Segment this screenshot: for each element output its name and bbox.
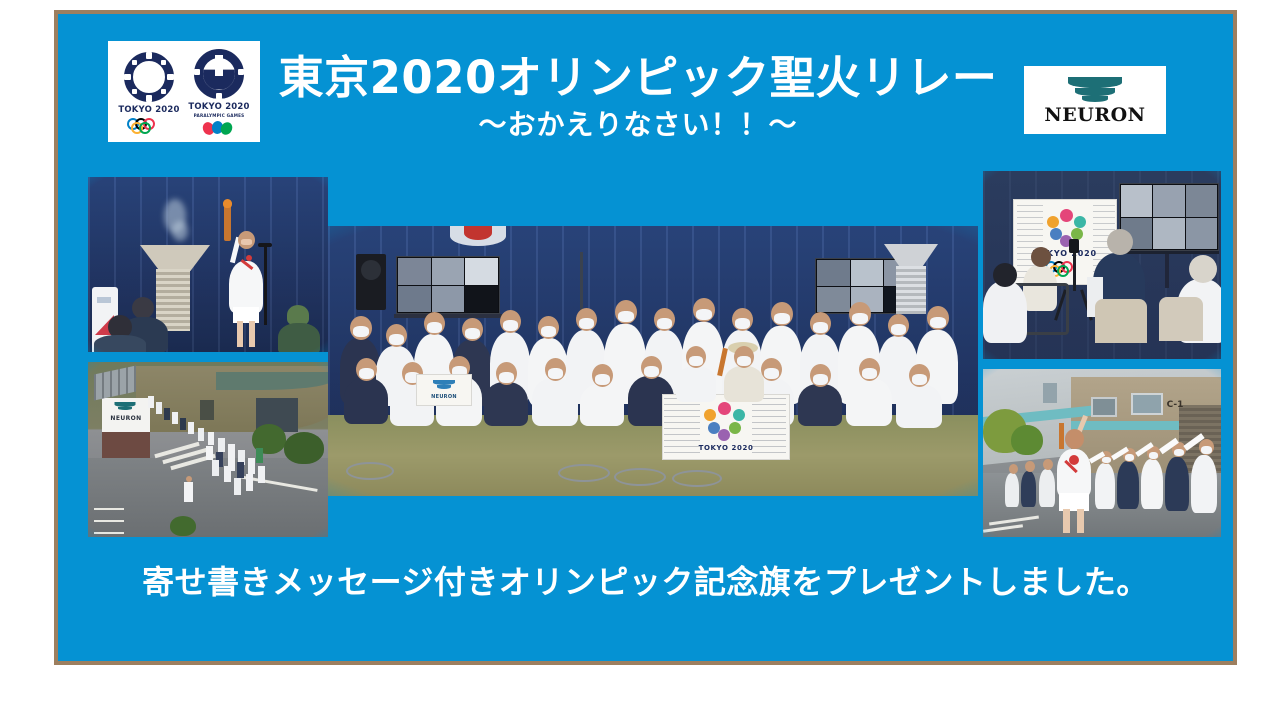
- group-commemorative-photo: NEURON TOKYO 2020: [328, 226, 978, 496]
- neuron-logo-box: NEURON: [1024, 66, 1166, 134]
- neuron-wordmark: NEURON: [1044, 106, 1145, 125]
- checkered-fan-icon: [194, 49, 244, 99]
- torch-lighting-photo: [88, 177, 328, 352]
- page-subtitle: 〜おかえりなさい！！〜: [268, 110, 1008, 141]
- tokyo-2020-olympic-emblem: TOKYO 2020: [117, 52, 181, 132]
- relay-route-aerial-photo: NEURON: [88, 362, 328, 537]
- caption-text: 寄せ書きメッセージ付きオリンピック記念旗をプレゼントしました。: [58, 557, 1233, 603]
- paralympic-emblem-sublabel: PARALYMPIC GAMES: [194, 113, 245, 118]
- flag-presentation-photo: TOKYO 2020: [983, 171, 1221, 359]
- neuron-arcs-icon: [1066, 76, 1124, 104]
- building-label: C-1: [1163, 399, 1187, 411]
- agitos-icon: [202, 121, 236, 135]
- title-block: 東京2020オリンピック聖火リレー 〜おかえりなさい！！〜: [268, 54, 1008, 141]
- checkered-ring-icon: [124, 52, 174, 102]
- tokyo-2020-paralympic-emblem: TOKYO 2020 PARALYMPIC GAMES: [187, 49, 251, 135]
- video-call-screen: [1119, 183, 1219, 251]
- page-title: 東京2020オリンピック聖火リレー: [268, 54, 1008, 101]
- slide-panel: TOKYO 2020 TOKYO 2020 PARALYMPIC GAMES: [54, 10, 1237, 665]
- tokyo-2020-logo-box: TOKYO 2020 TOKYO 2020 PARALYMPIC GAMES: [108, 41, 260, 142]
- olympic-rings-icon: [127, 118, 171, 132]
- olympic-emblem-label: TOKYO 2020: [118, 105, 179, 115]
- video-call-screen-left: [396, 256, 500, 314]
- paralympic-emblem-label: TOKYO 2020: [188, 102, 249, 112]
- neuron-sign-text: NEURON: [106, 415, 146, 422]
- torch-runner-cheering-photo: C-1: [983, 369, 1221, 537]
